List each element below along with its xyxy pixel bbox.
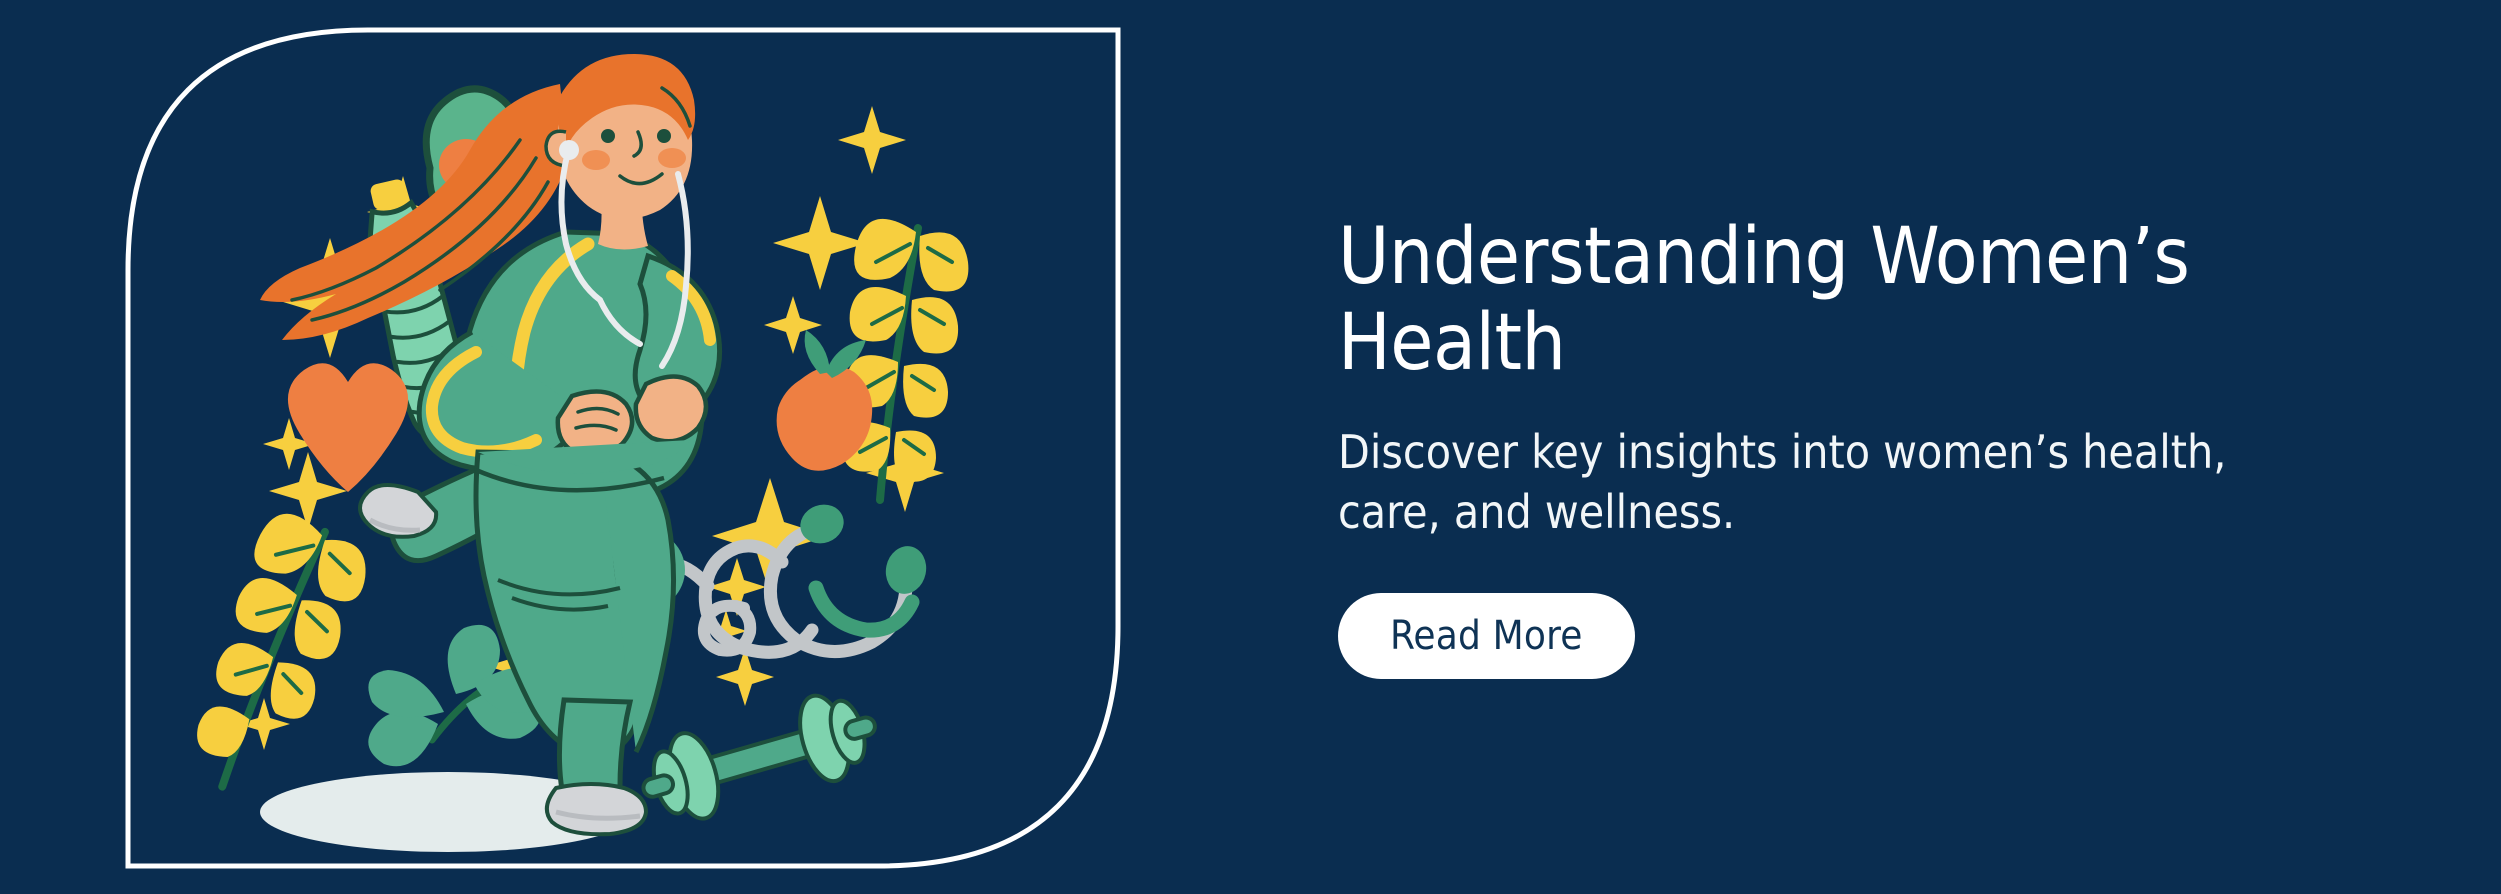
hero-banner: Understanding Women’s Health Discover ke…	[0, 0, 2501, 894]
illustration-panel	[0, 0, 1260, 894]
hero-text-column: Understanding Women’s Health Discover ke…	[1338, 0, 2438, 894]
hero-subtitle: Discover key insights into women’s healt…	[1338, 423, 2268, 543]
leaf-frame-border	[0, 0, 1260, 894]
read-more-button[interactable]: Read More	[1338, 593, 1635, 679]
page-title: Understanding Women’s Health	[1338, 215, 2318, 387]
